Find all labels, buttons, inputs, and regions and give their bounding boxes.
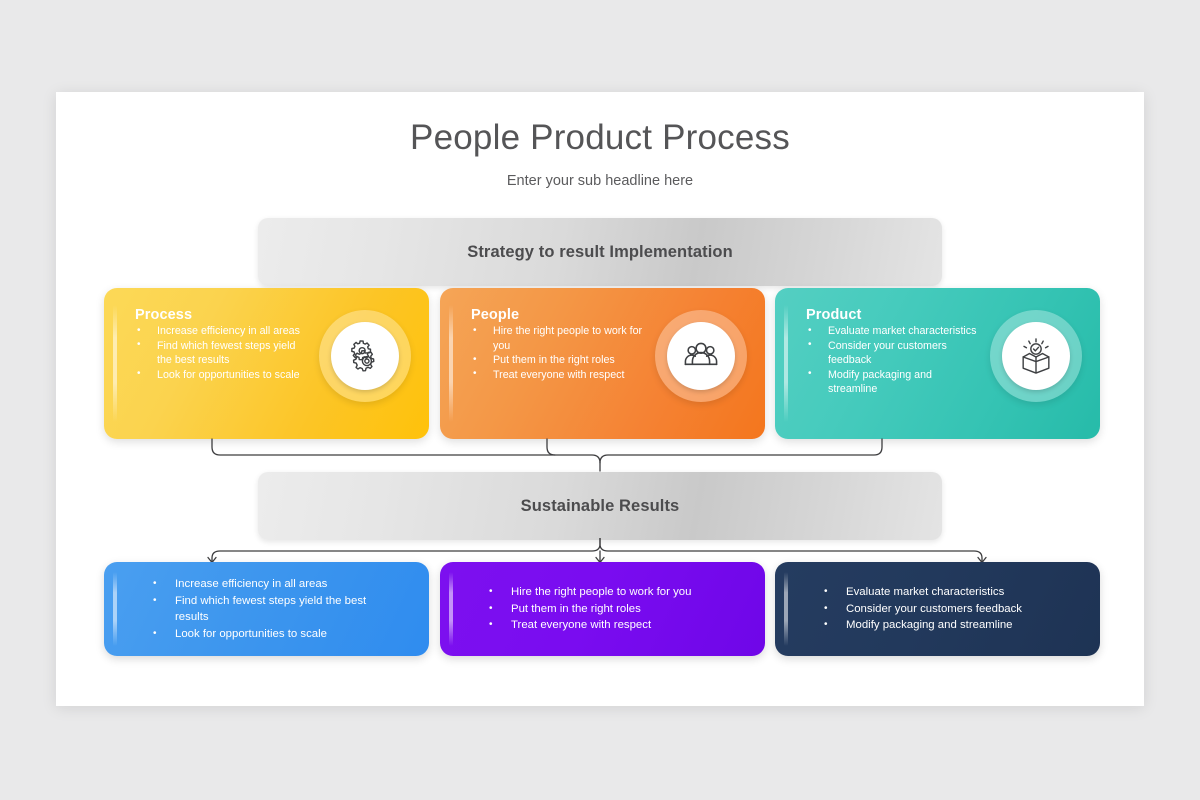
page-subtitle: Enter your sub headline here — [56, 173, 1144, 189]
list-item: Evaluate market characteristics — [821, 584, 1073, 601]
list-item: Hire the right people to work for you — [486, 584, 738, 601]
card-product-text: Product Evaluate market characteristics … — [806, 307, 982, 397]
page-title: People Product Process — [56, 118, 1144, 158]
result-card-process-bullets: Increase efficiency in all areas Find wh… — [150, 576, 402, 642]
banner-results-label: Sustainable Results — [521, 497, 680, 516]
connector-upper — [56, 437, 1144, 477]
list-item: Evaluate market characteristics — [806, 324, 982, 339]
banner-strategy-label: Strategy to result Implementation — [467, 243, 733, 262]
people-group-icon — [667, 322, 735, 390]
card-people-text: People Hire the right people to work for… — [471, 307, 647, 382]
list-item: Consider your customers feedback — [821, 601, 1073, 618]
list-item: Treat everyone with respect — [471, 368, 647, 383]
card-process-text: Process Increase efficiency in all areas… — [135, 307, 311, 382]
list-item: Increase efficiency in all areas — [150, 576, 402, 593]
open-box-check-icon — [1002, 322, 1070, 390]
card-people-heading: People — [471, 307, 647, 323]
list-item: Hire the right people to work for you — [471, 324, 647, 353]
card-product-icon-badge — [990, 310, 1082, 402]
card-process-icon-badge — [319, 310, 411, 402]
result-card-people-bullets: Hire the right people to work for you Pu… — [486, 584, 738, 634]
list-item: Modify packaging and streamline — [821, 617, 1073, 634]
result-card-people[interactable]: Hire the right people to work for you Pu… — [440, 562, 765, 656]
list-item: Put them in the right roles — [486, 601, 738, 618]
card-product-heading: Product — [806, 307, 982, 323]
banner-strategy[interactable]: Strategy to result Implementation — [258, 218, 942, 286]
card-people[interactable]: People Hire the right people to work for… — [440, 288, 765, 439]
list-item: Consider your customers feedback — [806, 339, 982, 368]
slide-canvas: People Product Process Enter your sub he… — [56, 92, 1144, 706]
list-item: Look for opportunities to scale — [135, 368, 311, 383]
list-item: Modify packaging and streamline — [806, 368, 982, 397]
card-process[interactable]: Process Increase efficiency in all areas… — [104, 288, 429, 439]
result-card-process[interactable]: Increase efficiency in all areas Find wh… — [104, 562, 429, 656]
result-card-product[interactable]: Evaluate market characteristics Consider… — [775, 562, 1100, 656]
card-people-icon-badge — [655, 310, 747, 402]
card-product[interactable]: Product Evaluate market characteristics … — [775, 288, 1100, 439]
list-item: Find which fewest steps yield the best r… — [135, 339, 311, 368]
card-process-bullets: Increase efficiency in all areas Find wh… — [135, 324, 311, 382]
card-process-heading: Process — [135, 307, 311, 323]
list-item: Look for opportunities to scale — [150, 626, 402, 643]
list-item: Increase efficiency in all areas — [135, 324, 311, 339]
card-people-bullets: Hire the right people to work for you Pu… — [471, 324, 647, 382]
list-item: Treat everyone with respect — [486, 617, 738, 634]
gears-icon — [331, 322, 399, 390]
result-card-product-bullets: Evaluate market characteristics Consider… — [821, 584, 1073, 634]
list-item: Find which fewest steps yield the best r… — [150, 593, 402, 626]
list-item: Put them in the right roles — [471, 353, 647, 368]
card-product-bullets: Evaluate market characteristics Consider… — [806, 324, 982, 397]
banner-results[interactable]: Sustainable Results — [258, 472, 942, 540]
